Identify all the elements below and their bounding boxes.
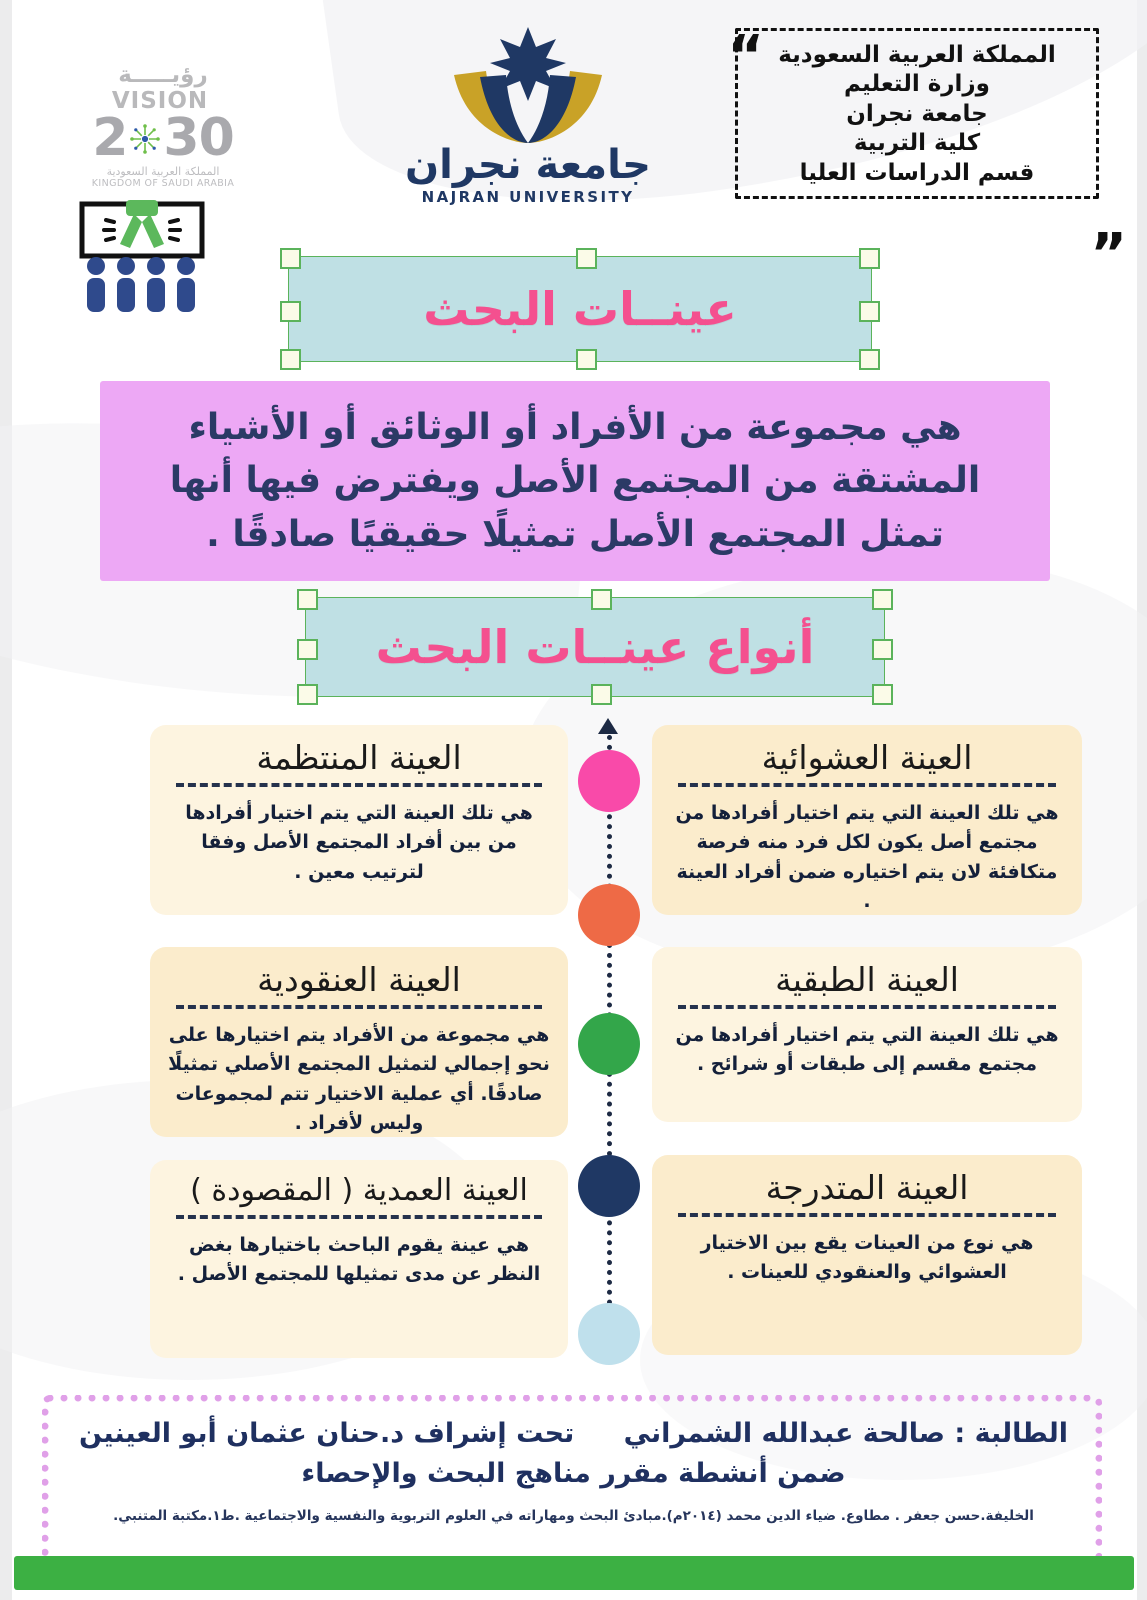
- footer-credits-line: الطالبة : صالحة عبدالله الشمراني تحت إشر…: [0, 1418, 1147, 1449]
- card-body: هي تلك العينة التي يتم اختيار أفرادها من…: [670, 799, 1064, 917]
- resize-handle-bottom-left[interactable]: [280, 349, 301, 370]
- footer-course-line: ضمن أنشطة مقرر مناهج البحث والإحصاء: [0, 1458, 1147, 1489]
- bottom-green-bar: [14, 1556, 1134, 1590]
- card-title: العينة العشوائية: [670, 739, 1064, 777]
- audience-presentation-icon: [72, 200, 212, 315]
- footer-reference: الخليفة.حسن جعفر . مطاوع. ضياء الدين محم…: [0, 1508, 1147, 1524]
- najran-university-logo: جامعة نجران NAJRAN UNIVERSITY: [398, 25, 658, 206]
- resize-handle-top-center[interactable]: [591, 589, 612, 610]
- card-divider: [176, 1005, 542, 1009]
- resize-handle-middle-left[interactable]: [297, 639, 318, 660]
- card-purposive-sample: العينة العمدية ( المقصودة ) هي عينة يقوم…: [150, 1160, 568, 1358]
- card-divider: [678, 783, 1056, 787]
- resize-handle-top-left[interactable]: [280, 248, 301, 269]
- poster-canvas: رؤيـــــة VISION 2 30 المملكة العربية ال…: [0, 0, 1147, 1600]
- vision-logo-arabic: رؤيـــــة: [118, 62, 207, 88]
- student-name: الطالبة : صالحة عبدالله الشمراني: [624, 1418, 1068, 1449]
- title-box-research-samples[interactable]: عينــات البحث: [288, 256, 872, 362]
- card-title: العينة الطبقية: [670, 961, 1064, 999]
- resize-handle-top-center[interactable]: [576, 248, 597, 269]
- timeline-arrow-icon: [598, 718, 618, 734]
- timeline-dot-2: [578, 884, 640, 946]
- card-graded-sample: العينة المتدرجة هي نوع من العينات يقع بي…: [652, 1155, 1082, 1355]
- timeline-dot-1: [578, 750, 640, 812]
- card-cluster-sample: العينة العنقودية هي مجموعة من الأفراد يت…: [150, 947, 568, 1137]
- resize-handle-bottom-left[interactable]: [297, 684, 318, 705]
- card-title: العينة المنتظمة: [168, 739, 550, 777]
- resize-handle-middle-right[interactable]: [859, 301, 880, 322]
- timeline-dot-5: [578, 1303, 640, 1365]
- affiliation-line: وزارة التعليم: [752, 70, 1082, 99]
- title-box-sample-types[interactable]: أنواع عينــات البحث: [305, 597, 885, 697]
- card-systematic-sample: العينة المنتظمة هي تلك العينة التي يتم ا…: [150, 725, 568, 915]
- quote-close-mark: ”: [1090, 238, 1127, 272]
- resize-handle-bottom-right[interactable]: [872, 684, 893, 705]
- card-title: العينة المتدرجة: [670, 1169, 1064, 1207]
- vision-2030-logo: رؤيـــــة VISION 2 30 المملكة العربية ال…: [78, 62, 248, 189]
- affiliation-line: كلية التربية: [752, 129, 1082, 158]
- card-divider: [678, 1213, 1056, 1217]
- definition-text: هي مجموعة من الأفراد أو الوثائق أو الأشي…: [126, 401, 1024, 561]
- vision-logo-year: 2 30: [78, 114, 248, 163]
- vision-year-text: 2: [92, 114, 127, 163]
- card-random-sample: العينة العشوائية هي تلك العينة التي يتم …: [652, 725, 1082, 915]
- card-body: هي نوع من العينات يقع بين الاختيار العشو…: [670, 1229, 1064, 1288]
- title-text-sample-types: أنواع عينــات البحث: [376, 620, 815, 674]
- card-body: هي عينة يقوم الباحث باختيارها بغض النظر …: [168, 1231, 550, 1290]
- card-divider: [176, 783, 542, 787]
- resize-handle-top-right[interactable]: [872, 589, 893, 610]
- university-name-en: NAJRAN UNIVERSITY: [398, 188, 658, 206]
- resize-handle-bottom-center[interactable]: [591, 684, 612, 705]
- resize-handle-bottom-right[interactable]: [859, 349, 880, 370]
- card-title: العينة العنقودية: [168, 961, 550, 999]
- resize-handle-top-left[interactable]: [297, 589, 318, 610]
- resize-handle-top-right[interactable]: [859, 248, 880, 269]
- affiliation-line: جامعة نجران: [752, 100, 1082, 129]
- resize-handle-middle-left[interactable]: [280, 301, 301, 322]
- resize-handle-middle-right[interactable]: [872, 639, 893, 660]
- card-divider: [176, 1215, 542, 1219]
- resize-handle-bottom-center[interactable]: [576, 349, 597, 370]
- vision-year-text-2: 30: [163, 114, 233, 163]
- affiliation-line: قسم الدراسات العليا: [752, 159, 1082, 188]
- card-body: هي تلك العينة التي يتم اختيار أفرادها من…: [670, 1021, 1064, 1080]
- vision-logo-top: رؤيـــــة VISION: [78, 62, 248, 114]
- affiliation-block: المملكة العربية السعودية وزارة التعليم ج…: [735, 28, 1099, 199]
- card-body: هي تلك العينة التي يتم اختيار أفرادها من…: [168, 799, 550, 887]
- timeline-dot-4: [578, 1155, 640, 1217]
- card-divider: [678, 1005, 1056, 1009]
- university-emblem-icon: [428, 25, 628, 145]
- definition-box: هي مجموعة من الأفراد أو الوثائق أو الأشي…: [100, 381, 1050, 581]
- right-edge-strip: [1137, 0, 1147, 1600]
- timeline-dot-3: [578, 1013, 640, 1075]
- vision-logo-subtitle-en: KINGDOM OF SAUDI ARABIA: [78, 178, 248, 189]
- card-title: العينة العمدية ( المقصودة ): [168, 1174, 550, 1209]
- vision-emblem-icon: [128, 122, 162, 156]
- supervisor-name: تحت إشراف د.حنان عثمان أبو العينين: [79, 1418, 574, 1449]
- card-stratified-sample: العينة الطبقية هي تلك العينة التي يتم اخ…: [652, 947, 1082, 1122]
- affiliation-line: المملكة العربية السعودية: [752, 41, 1082, 70]
- card-body: هي مجموعة من الأفراد يتم اختيارها على نح…: [168, 1021, 550, 1139]
- title-text-research-samples: عينــات البحث: [423, 282, 737, 336]
- left-edge-strip: [0, 0, 12, 1600]
- university-name-ar: جامعة نجران: [398, 145, 658, 185]
